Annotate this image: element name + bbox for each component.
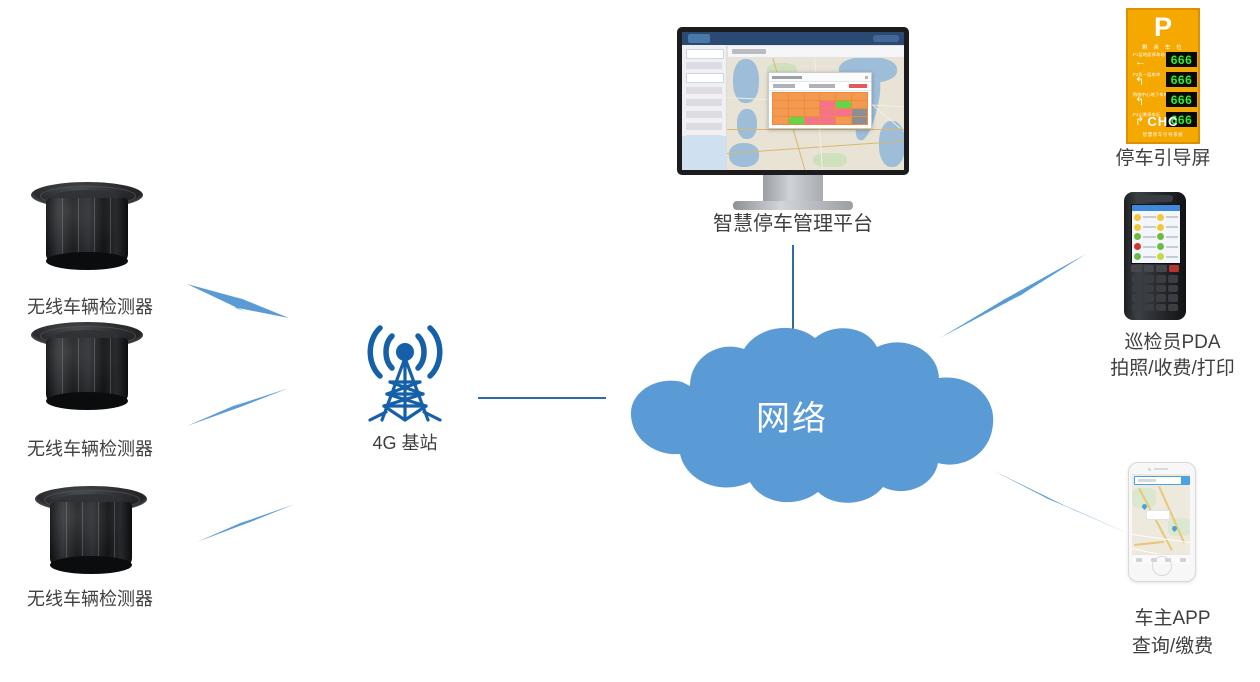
platform-screen [682,32,904,170]
guidance-row-1-arrow-icon: ↰ [1135,77,1144,88]
parking-cell[interactable] [852,93,867,100]
detector-base [50,556,132,574]
sidebar-footer [682,136,726,170]
parking-cell[interactable] [789,109,804,116]
phone-tab[interactable] [1180,558,1186,562]
pda-menu-item[interactable] [1157,242,1179,251]
platform-label: 智慧停车管理平台 [673,211,913,237]
pda-function-keys[interactable] [1131,265,1179,272]
guidance-subtitle: 剩 余 车 位 [1128,43,1198,51]
phone-home-button[interactable] [1152,556,1172,576]
pda-key[interactable] [1144,275,1154,283]
breadcrumb-text [732,49,766,54]
guidance-row-1-led: 666 [1166,72,1197,87]
parking-cell[interactable] [773,101,788,108]
parking-p-letter: P [1128,14,1198,41]
parking-cell[interactable] [789,117,804,124]
pda-key[interactable] [1168,285,1178,293]
wireless-link-detector-1 [186,272,290,324]
detector-base [46,392,128,410]
popup-title [772,76,802,80]
sidebar-item-1[interactable] [686,62,722,69]
map-info-card[interactable] [1146,510,1170,520]
map-water [733,59,759,103]
cell-tower-icon [352,322,458,426]
pda-key[interactable] [1156,285,1166,293]
parking-cell[interactable] [789,93,804,100]
monitor-stand-base [733,201,853,210]
pda-key[interactable] [1156,304,1166,312]
pda-key[interactable] [1156,294,1166,302]
guidance-row-0-led: 666 [1166,52,1197,67]
pda-key[interactable] [1132,275,1142,283]
wireless-link-detector-3 [196,498,296,548]
pda-screen [1131,204,1181,264]
inspector-pda [1124,192,1186,320]
popup-action[interactable] [849,84,867,88]
network-cloud: 网络 [572,320,1012,510]
detector-1-label: 无线车辆检测器 [0,296,180,320]
platform-topbar [682,32,904,45]
parking-cell[interactable] [805,117,820,124]
detector-3-label: 无线车辆检测器 [0,588,180,612]
parking-cell[interactable] [836,117,851,124]
pda-keypad[interactable] [1132,275,1178,311]
close-icon[interactable] [865,76,869,80]
phone-camera [1148,468,1151,471]
pda-key[interactable] [1168,294,1178,302]
parking-cell[interactable] [852,101,867,108]
guidance-row-1-left: P2负一层车库 ↰ [1133,72,1164,78]
parking-cell[interactable] [852,117,867,124]
parking-cell[interactable] [805,93,820,100]
pda-fn-key[interactable] [1131,265,1142,272]
architecture-diagram: 无线车辆检测器 无线车辆检测器 [0,0,1260,682]
phone-search-bar[interactable] [1134,476,1190,485]
pda-key[interactable] [1132,285,1142,293]
detector-2-label: 无线车辆检测器 [0,438,180,462]
guidance-row-1-count: 666 [1171,73,1193,87]
filter-lot[interactable] [809,84,835,88]
account-menu[interactable] [873,35,899,42]
pda-menu-item[interactable] [1134,242,1156,251]
parking-cell[interactable] [836,101,851,108]
wireless-link-phone [990,466,1136,540]
pda-label-line2: 拍照/收费/打印 [1085,356,1260,381]
parking-cell[interactable] [773,109,788,116]
guidance-row-0-count: 666 [1171,53,1193,67]
pda-key[interactable] [1144,294,1154,302]
guidance-panel: P 剩 余 车 位 P1层地面停车场 ← 666 P2负一层车库 ↰ 666 [1126,8,1200,144]
pda-power-key[interactable] [1169,265,1180,272]
sidebar-item-3[interactable] [686,87,722,94]
map-park [813,153,847,167]
guidance-row-2-led: 666 [1166,92,1197,107]
pda-key[interactable] [1144,304,1154,312]
parking-cell[interactable] [805,109,820,116]
parking-cell[interactable] [789,101,804,108]
pda-key[interactable] [1144,285,1154,293]
vehicle-detector-icon [28,322,146,414]
pda-menu-grid [1134,213,1178,261]
pda-menu-item[interactable] [1157,213,1179,222]
parking-cell[interactable] [852,109,867,116]
guidance-brand: CHC [1128,114,1198,129]
pda-speaker [1137,195,1173,202]
phone-label-line2: 查询/缴费 [1085,634,1260,659]
parking-cell[interactable] [820,101,835,108]
map-water [737,109,757,139]
pda-key[interactable] [1132,304,1142,312]
pda-titlebar [1132,205,1180,211]
parking-status-popup [768,72,872,129]
network-label: 网络 [572,320,1012,510]
guidance-row-2: 购物中心地下车库 ↰ 666 [1133,92,1197,109]
parking-cell[interactable] [805,101,820,108]
guidance-row-2-left: 购物中心地下车库 ↰ [1133,92,1164,98]
guidance-brand-sub: 智慧停车引导系统 [1128,132,1198,138]
guidance-row-2-count: 666 [1171,93,1193,107]
base-station-label: 4G 基站 [330,432,480,456]
pda-fn-key[interactable] [1144,265,1155,272]
parking-grid [772,92,868,125]
pda-key[interactable] [1156,275,1166,283]
guidance-sign: P 剩 余 车 位 P1层地面停车场 ← 666 P2负一层车库 ↰ 666 [1126,8,1200,144]
platform-monitor [677,27,909,213]
guidance-row-2-arrow-icon: ↰ [1135,97,1144,108]
parking-cell[interactable] [820,93,835,100]
pda-menu-item[interactable] [1134,223,1156,232]
guidance-row-0: P1层地面停车场 ← 666 [1133,52,1197,69]
phone-screen [1132,474,1190,564]
phone-tab[interactable] [1136,558,1142,562]
parking-cell[interactable] [836,109,851,116]
sidebar-item-0[interactable] [686,49,724,59]
pda-menu-item[interactable] [1134,213,1156,222]
parking-cell[interactable] [820,117,835,124]
pda-key[interactable] [1168,304,1178,312]
platform-logo [688,34,710,43]
parking-cell[interactable] [773,117,788,124]
vehicle-detector-icon [28,182,146,274]
pda-fn-key[interactable] [1156,265,1167,272]
phone-speaker [1154,468,1168,470]
base-station [352,322,458,431]
guidance-sign-label: 停车引导屏 [1090,146,1236,171]
pda-menu-item[interactable] [1157,233,1179,242]
parking-cell[interactable] [836,93,851,100]
monitor-stand-neck [763,175,823,201]
sidebar-item-4[interactable] [686,99,722,106]
detector-base [46,252,128,270]
owner-phone [1128,462,1194,580]
filter-zone[interactable] [773,84,795,88]
map-water [729,143,759,167]
pda-key[interactable] [1132,294,1142,302]
map-road [727,129,904,130]
popup-filters [769,81,871,91]
wireless-link-pda [938,252,1088,342]
pda-menu-item[interactable] [1157,223,1179,232]
platform-sidebar[interactable] [682,45,727,170]
map-road [1134,541,1164,546]
search-placeholder [1138,479,1156,482]
sidebar-item-6[interactable] [686,123,722,130]
parking-cell[interactable] [820,109,835,116]
pda-label-line1: 巡检员PDA [1085,330,1260,355]
pda-key[interactable] [1168,275,1178,283]
sidebar-item-5[interactable] [686,111,722,118]
sidebar-item-2[interactable] [686,73,724,83]
guidance-row-0-left: P1层地面停车场 ← [1133,52,1164,58]
pda-menu-item[interactable] [1157,252,1179,261]
pda-menu-item[interactable] [1134,233,1156,242]
phone-label-line1: 车主APP [1085,606,1260,631]
vehicle-detector-icon [32,486,150,578]
guidance-row-1: P2负一层车库 ↰ 666 [1133,72,1197,89]
guidance-row-0-arrow-icon: ← [1135,57,1146,68]
wireless-link-detector-2 [186,380,290,432]
search-icon[interactable] [1181,477,1189,484]
pda-menu-item[interactable] [1134,252,1156,261]
parking-cell[interactable] [773,93,788,100]
